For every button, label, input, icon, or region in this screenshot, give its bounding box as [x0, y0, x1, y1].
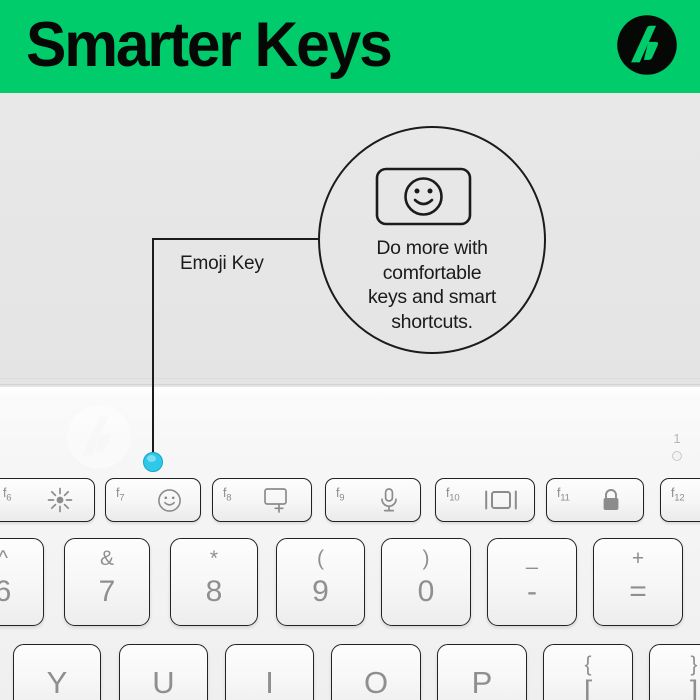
lock-icon [579, 479, 643, 521]
key-8-upper: * [171, 548, 257, 569]
key-f10-label: f10 [446, 486, 459, 504]
callout-line-3: keys and smart [330, 285, 534, 310]
key-o-legend: O [332, 667, 420, 698]
key-bracket-left-upper: { [544, 654, 632, 675]
key-equals[interactable]: + = [593, 538, 683, 626]
key-f11-label: f11 [557, 486, 570, 504]
key-bracket-left[interactable]: { [ [543, 644, 633, 700]
key-p-legend: P [438, 667, 526, 698]
keyboard-indicator: 1 [664, 432, 690, 474]
key-6[interactable]: ^ 6 [0, 538, 44, 626]
key-7-lower: 7 [65, 577, 149, 607]
key-f9[interactable]: f9 [325, 478, 421, 522]
key-i[interactable]: I [225, 644, 314, 700]
indicator-number: 1 [664, 432, 690, 445]
emoji-key-icon [375, 167, 472, 226]
key-f8[interactable]: f8 [212, 478, 312, 522]
hp-logo-watermark-icon [66, 404, 132, 470]
callout-line-4: shortcuts. [330, 310, 534, 335]
product-promo-image: Smarter Keys 1 Do [0, 0, 700, 700]
callout-connector-vertical [152, 238, 154, 460]
callout-line-1: Do more with [330, 236, 534, 261]
key-equals-upper: + [594, 548, 682, 569]
key-minus[interactable]: _ - [487, 538, 577, 626]
key-f9-label: f9 [336, 486, 344, 504]
key-8-lower: 8 [171, 577, 257, 607]
key-bracket-right-upper: } [650, 654, 700, 675]
key-6-lower: 6 [0, 577, 43, 607]
backdrop-seam [0, 378, 700, 379]
keyboard-top-sheen [0, 387, 700, 397]
key-bracket-left-lower: [ [544, 677, 632, 700]
key-f10[interactable]: f10 [435, 478, 535, 522]
key-minus-upper: _ [488, 548, 576, 569]
emoji-key-label: Emoji Key [180, 253, 264, 275]
key-f11-lock[interactable]: f11 [546, 478, 644, 522]
key-f12-label: f12 [671, 486, 684, 504]
key-bracket-right[interactable]: } ] [649, 644, 700, 700]
backdrop-seam-secondary [0, 384, 700, 385]
key-bracket-right-lower: ] [650, 677, 700, 700]
key-9-lower: 9 [277, 577, 364, 607]
key-minus-lower: - [488, 577, 576, 607]
callout-pointer-dot [143, 452, 163, 472]
key-equals-lower: = [594, 577, 682, 607]
key-0-upper: ) [382, 548, 470, 569]
hp-logo-icon [616, 14, 678, 76]
display-layout-icon [468, 479, 534, 521]
key-8[interactable]: * 8 [170, 538, 258, 626]
key-o[interactable]: O [331, 644, 421, 700]
key-u[interactable]: U [119, 644, 208, 700]
callout-connector-horizontal [152, 238, 318, 240]
key-0-lower: 0 [382, 577, 470, 607]
key-7-upper: & [65, 548, 149, 569]
callout-line-2: comfortable [330, 261, 534, 286]
key-f6[interactable]: f6 [0, 478, 95, 522]
key-p[interactable]: P [437, 644, 527, 700]
key-f8-label: f8 [223, 486, 231, 504]
key-0[interactable]: ) 0 [381, 538, 471, 626]
key-f6-label: f6 [3, 486, 11, 504]
key-y-legend: Y [14, 667, 100, 698]
brightness-icon [25, 479, 94, 521]
key-9-upper: ( [277, 548, 364, 569]
header-banner: Smarter Keys [0, 0, 700, 93]
led-indicator-dot [672, 451, 682, 461]
key-7[interactable]: & 7 [64, 538, 150, 626]
key-f7-emoji[interactable]: f7 [105, 478, 201, 522]
key-6-upper: ^ [0, 548, 43, 569]
emoji-smiley-icon [138, 479, 200, 521]
callout-body-text: Do more with comfortable keys and smart … [330, 236, 534, 334]
key-u-legend: U [120, 667, 207, 698]
page-title: Smarter Keys [26, 14, 391, 77]
key-9[interactable]: ( 9 [276, 538, 365, 626]
key-f7-label: f7 [116, 486, 124, 504]
key-f12[interactable]: f12 [660, 478, 700, 522]
key-i-legend: I [226, 667, 313, 698]
key-y[interactable]: Y [13, 644, 101, 700]
microphone-icon [358, 479, 420, 521]
new-window-icon [245, 479, 311, 521]
